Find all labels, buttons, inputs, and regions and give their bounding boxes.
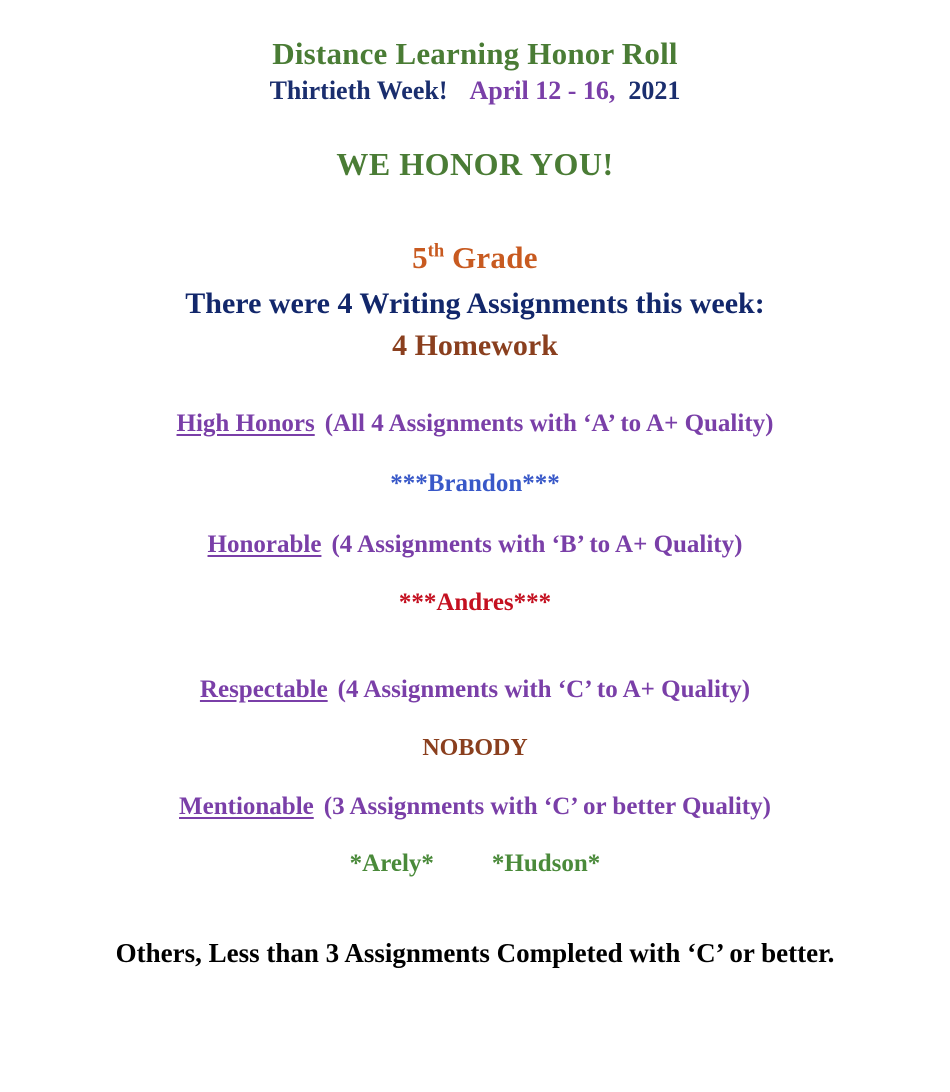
name-list-honorable: ***Andres***: [0, 557, 950, 615]
category-label-high-honors: High Honors: [177, 410, 315, 437]
grade-number: 5: [412, 240, 428, 275]
date-range-label: April 12 - 16,: [470, 76, 616, 105]
grade-word: Grade: [452, 240, 538, 275]
category-label-respectable: Respectable: [200, 676, 328, 703]
honor-roll-document: Distance Learning Honor Roll Thirtieth W…: [0, 0, 950, 1092]
page-title: Distance Learning Honor Roll: [0, 0, 950, 69]
category-criteria-mentionable: (3 Assignments with ‘C’ or better Qualit…: [324, 793, 771, 820]
student-name: ***Brandon***: [390, 470, 559, 497]
year-label: 2021: [628, 76, 680, 105]
grade-ordinal-suffix: th: [428, 241, 445, 262]
name-list-mentionable: *Arely**Hudson*: [0, 819, 950, 876]
name-list-high-honors: ***Brandon***: [0, 436, 950, 496]
week-number-label: Thirtieth Week!: [270, 76, 448, 105]
footer-note: Others, Less than 3 Assignments Complete…: [0, 876, 950, 967]
student-name: ***Andres***: [399, 589, 551, 616]
student-name: *Hudson*: [492, 850, 600, 877]
category-honorable: Honorable(4 Assignments with ‘B’ to A+ Q…: [0, 496, 950, 557]
subtitle-line: Thirtieth Week!April 12 - 16, 2021: [0, 69, 950, 104]
category-criteria-respectable: (4 Assignments with ‘C’ to A+ Quality): [338, 676, 750, 703]
category-criteria-high-honors: (All 4 Assignments with ‘A’ to A+ Qualit…: [325, 410, 774, 437]
category-label-honorable: Honorable: [208, 531, 322, 558]
student-name-placeholder: NOBODY: [422, 735, 527, 761]
student-name: *Arely*: [350, 850, 434, 877]
category-label-mentionable: Mentionable: [179, 793, 314, 820]
homework-count: 4 Homework: [0, 319, 950, 361]
honor-banner: WE HONOR YOU!: [0, 104, 950, 180]
category-high-honors: High Honors(All 4 Assignments with ‘A’ t…: [0, 361, 950, 436]
assignment-summary: There were 4 Writing Assignments this we…: [0, 273, 950, 319]
grade-heading: 5th Grade: [0, 180, 950, 273]
name-list-respectable: NOBODY: [0, 702, 950, 760]
category-criteria-honorable: (4 Assignments with ‘B’ to A+ Quality): [331, 531, 742, 558]
category-mentionable: Mentionable(3 Assignments with ‘C’ or be…: [0, 760, 950, 819]
category-respectable: Respectable(4 Assignments with ‘C’ to A+…: [0, 615, 950, 702]
